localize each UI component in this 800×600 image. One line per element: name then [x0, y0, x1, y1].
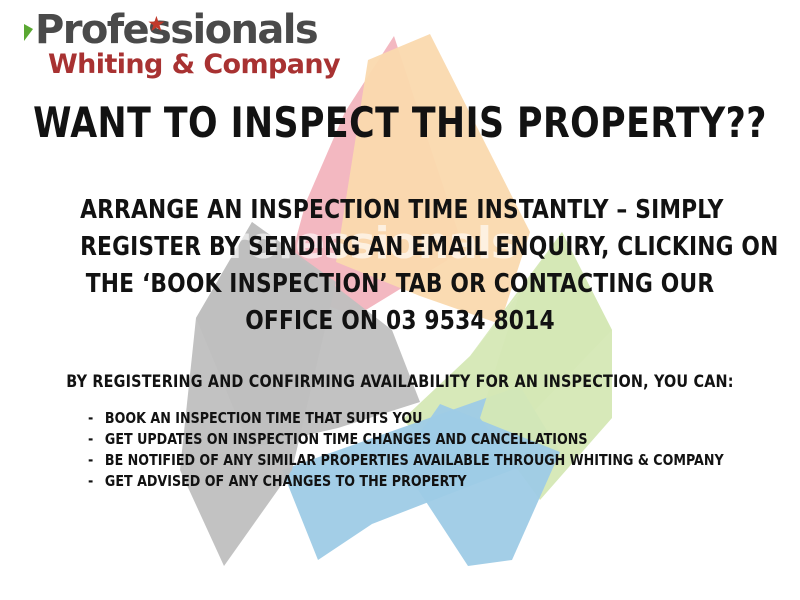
bullet-dash-icon: -	[88, 471, 93, 492]
list-item-label: Book an inspection time that suits you	[105, 409, 422, 427]
body-line-2: register by sending an email enquiry, cl…	[80, 229, 720, 266]
list-item-label: Get advised of any changes to the proper…	[105, 472, 467, 490]
bullet-dash-icon: -	[88, 450, 93, 471]
list-item: - Book an inspection time that suits you	[88, 408, 708, 429]
body-paragraph: Arrange an inspection time instantly – s…	[80, 192, 720, 340]
poster-canvas: Professionals Professionals ★ Whiting & …	[0, 0, 800, 600]
list-item: - Get advised of any changes to the prop…	[88, 471, 708, 492]
body-line-4: office on 03 9534 8014	[80, 303, 720, 340]
benefits-subheading: By registering and confirming availabili…	[24, 372, 776, 392]
body-line-1: Arrange an inspection time instantly – s…	[80, 192, 720, 229]
bullet-dash-icon: -	[88, 408, 93, 429]
body-line-3: the ‘Book Inspection’ tab or contacting …	[80, 266, 720, 303]
list-item: - Get updates on inspection time changes…	[88, 429, 708, 450]
list-item: - Be notified of any similar properties …	[88, 450, 708, 471]
benefits-list: - Book an inspection time that suits you…	[88, 408, 748, 492]
poster-content: Want to inspect this property?? Arrange …	[0, 0, 800, 600]
page-title: Want to inspect this property??	[32, 98, 768, 147]
list-item-label: Be notified of any similar properties av…	[105, 451, 724, 469]
bullet-dash-icon: -	[88, 429, 93, 450]
list-item-label: Get updates on inspection time changes a…	[105, 430, 588, 448]
